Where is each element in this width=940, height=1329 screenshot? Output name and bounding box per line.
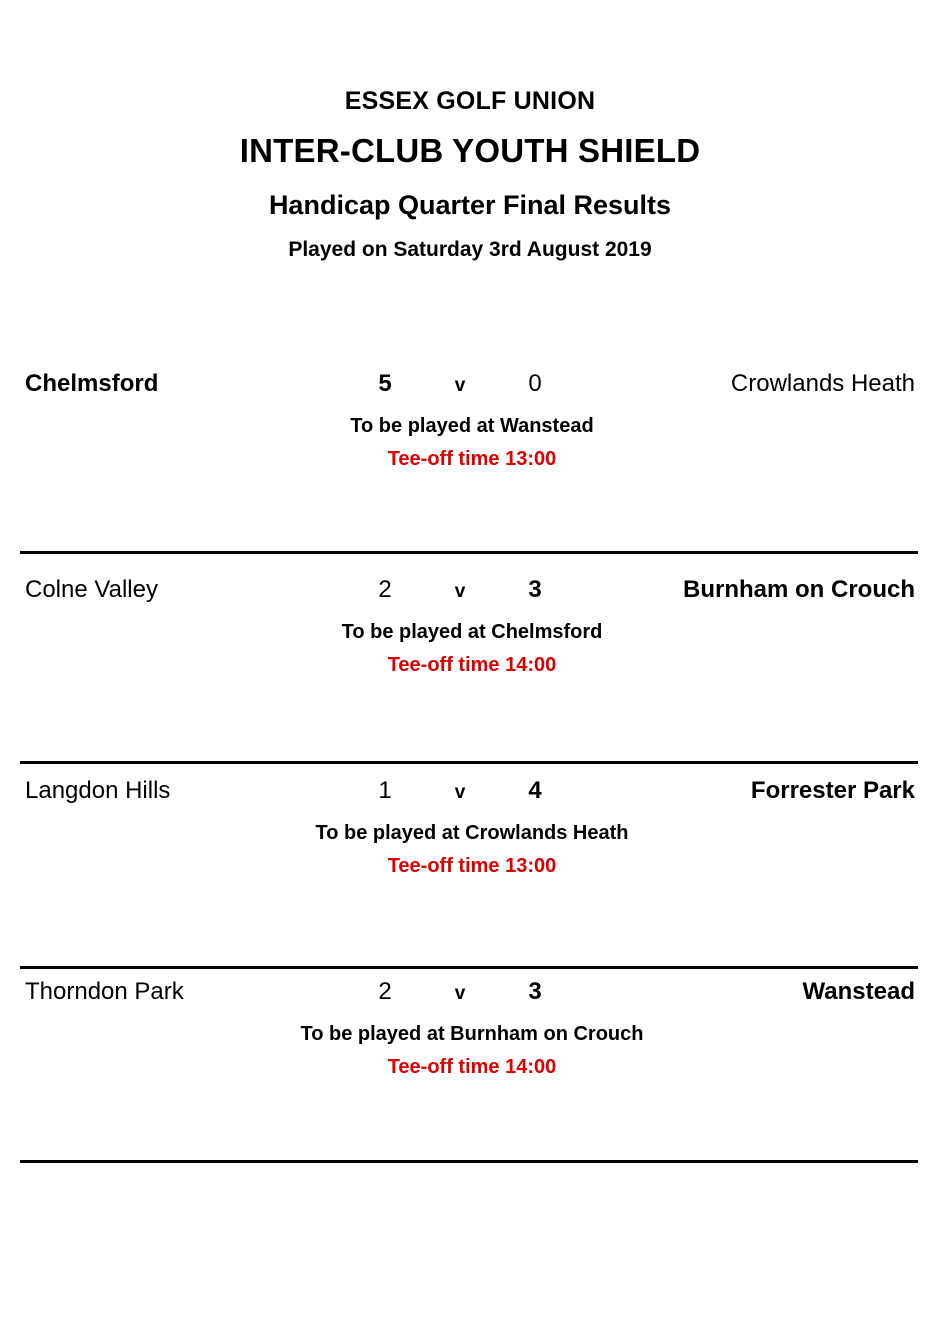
page-subtitle: Handicap Quarter Final Results — [0, 191, 940, 221]
away-team-score: 4 — [510, 777, 560, 805]
away-team-score: 3 — [510, 576, 560, 604]
versus-label: v — [445, 782, 475, 804]
match-scoreline: Colne Valley 2 v 3 Burnham on Crouch — [0, 576, 940, 616]
home-team-score: 2 — [360, 978, 410, 1006]
away-team-name: Wanstead — [803, 978, 915, 1006]
versus-label: v — [445, 375, 475, 397]
match-divider — [20, 966, 918, 969]
home-team-score: 2 — [360, 576, 410, 604]
match-divider — [20, 761, 918, 764]
away-team-name: Crowlands Heath — [731, 370, 915, 398]
away-team-name: Forrester Park — [751, 777, 915, 805]
away-team-score: 0 — [510, 370, 560, 398]
away-team-name: Burnham on Crouch — [683, 576, 915, 604]
played-on-date: Played on Saturday 3rd August 2019 — [0, 238, 940, 261]
home-team-score: 5 — [360, 370, 410, 398]
versus-label: v — [445, 983, 475, 1005]
match-venue: To be played at Crowlands Heath — [0, 822, 940, 845]
match-scoreline: Langdon Hills 1 v 4 Forrester Park — [0, 777, 940, 817]
document-header: ESSEX GOLF UNION INTER-CLUB YOUTH SHIELD… — [0, 0, 940, 262]
versus-label: v — [445, 581, 475, 603]
home-team-name: Chelmsford — [25, 370, 158, 398]
match-divider — [20, 551, 918, 554]
match-scoreline: Thorndon Park 2 v 3 Wanstead — [0, 978, 940, 1018]
home-team-name: Langdon Hills — [25, 777, 170, 805]
match-venue: To be played at Burnham on Crouch — [0, 1023, 940, 1046]
score-group: 5 v 0 — [360, 370, 560, 398]
home-team-score: 1 — [360, 777, 410, 805]
match-block: Colne Valley 2 v 3 Burnham on Crouch To … — [0, 576, 940, 677]
score-group: 2 v 3 — [360, 978, 560, 1006]
page-title: INTER-CLUB YOUTH SHIELD — [0, 133, 940, 169]
match-block: Chelmsford 5 v 0 Crowlands Heath To be p… — [0, 370, 940, 471]
match-results-list: Chelmsford 5 v 0 Crowlands Heath To be p… — [0, 370, 940, 1079]
match-scoreline: Chelmsford 5 v 0 Crowlands Heath — [0, 370, 940, 410]
match-block: Langdon Hills 1 v 4 Forrester Park To be… — [0, 777, 940, 878]
match-tee-time: Tee-off time 13:00 — [0, 855, 940, 878]
match-tee-time: Tee-off time 14:00 — [0, 654, 940, 677]
match-tee-time: Tee-off time 14:00 — [0, 1056, 940, 1079]
match-venue: To be played at Wanstead — [0, 415, 940, 438]
match-divider — [20, 1160, 918, 1163]
home-team-name: Thorndon Park — [25, 978, 184, 1006]
home-team-name: Colne Valley — [25, 576, 158, 604]
match-venue: To be played at Chelmsford — [0, 621, 940, 644]
match-block: Thorndon Park 2 v 3 Wanstead To be playe… — [0, 978, 940, 1079]
away-team-score: 3 — [510, 978, 560, 1006]
match-tee-time: Tee-off time 13:00 — [0, 448, 940, 471]
score-group: 1 v 4 — [360, 777, 560, 805]
score-group: 2 v 3 — [360, 576, 560, 604]
organisation-name: ESSEX GOLF UNION — [0, 88, 940, 116]
